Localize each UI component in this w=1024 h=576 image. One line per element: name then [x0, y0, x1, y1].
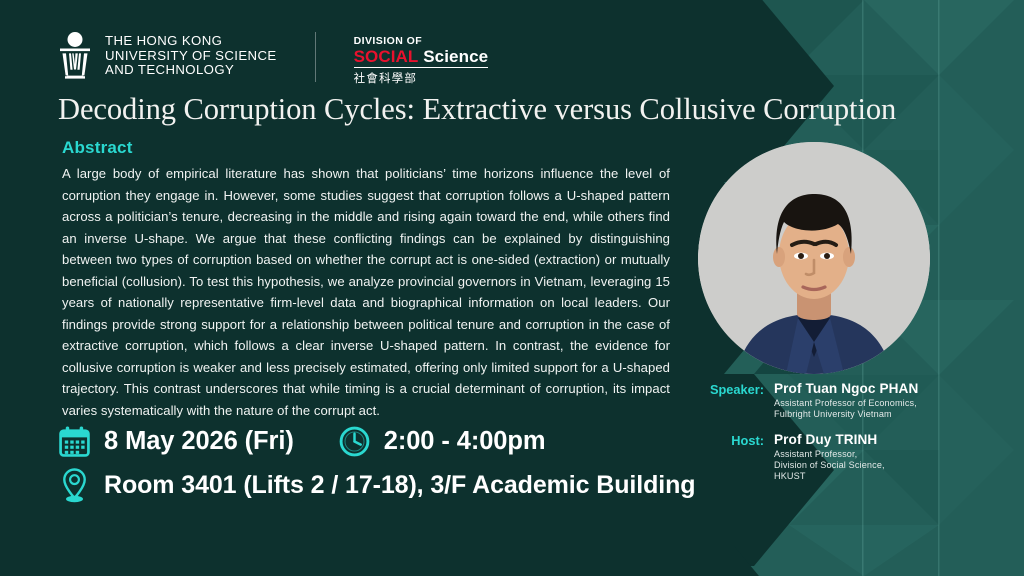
logo-divider — [315, 32, 316, 82]
speaker-portrait — [698, 142, 930, 374]
event-date: 8 May 2026 (Fri) — [104, 427, 294, 456]
abstract-text: A large body of empirical literature has… — [62, 163, 670, 421]
portrait-illustration — [698, 142, 930, 374]
social-word: SOCIAL — [354, 47, 419, 66]
division-social-science-logo: DIVISION OF SOCIAL Science 社會科學部 — [354, 30, 489, 86]
event-venue: Room 3401 (Lifts 2 / 17-18), 3/F Academi… — [104, 471, 695, 500]
speaker-name: Prof Tuan Ngoc PHAN — [774, 381, 918, 397]
host-name: Prof Duy TRINH — [774, 432, 885, 448]
speaker-label: Speaker: — [688, 381, 764, 419]
hkust-torch-icon — [56, 30, 94, 80]
date-item: 8 May 2026 (Fri) — [58, 425, 294, 458]
people-section: Speaker: Prof Tuan Ngoc PHAN Assistant P… — [688, 381, 938, 495]
page-title: Decoding Corruption Cycles: Extractive v… — [58, 92, 945, 126]
venue-item: Room 3401 (Lifts 2 / 17-18), 3/F Academi… — [58, 467, 695, 503]
event-time: 2:00 - 4:00pm — [384, 427, 546, 456]
calendar-icon — [58, 425, 91, 458]
speaker-row: Speaker: Prof Tuan Ngoc PHAN Assistant P… — [688, 381, 938, 419]
time-item: 2:00 - 4:00pm — [338, 425, 546, 458]
host-affiliation: Assistant Professor, Division of Social … — [774, 449, 885, 481]
logo-bar: THE HONG KONG UNIVERSITY OF SCIENCE AND … — [56, 30, 488, 86]
science-word: Science — [423, 47, 488, 66]
venue-row: Room 3401 (Lifts 2 / 17-18), 3/F Academi… — [58, 467, 695, 503]
clock-icon — [338, 425, 371, 458]
hkust-logo: THE HONG KONG UNIVERSITY OF SCIENCE AND … — [56, 30, 277, 80]
host-row: Host: Prof Duy TRINH Assistant Professor… — [688, 432, 938, 481]
seminar-poster: THE HONG KONG UNIVERSITY OF SCIENCE AND … — [0, 0, 1024, 576]
division-of-label: DIVISION OF — [354, 35, 489, 47]
location-pin-icon — [58, 467, 91, 503]
speaker-affiliation: Assistant Professor of Economics, Fulbri… — [774, 398, 918, 419]
hkust-wordmark: THE HONG KONG UNIVERSITY OF SCIENCE AND … — [105, 32, 277, 78]
date-time-row: 8 May 2026 (Fri) 2:00 - 4:00pm — [58, 425, 695, 458]
division-chinese-name: 社會科學部 — [354, 71, 489, 86]
social-science-wordmark: SOCIAL Science — [354, 47, 489, 68]
abstract-heading: Abstract — [62, 138, 670, 158]
host-label: Host: — [688, 432, 764, 481]
event-info: 8 May 2026 (Fri) 2:00 - 4:00pm — [58, 425, 695, 512]
abstract-section: Abstract A large body of empirical liter… — [62, 138, 670, 421]
